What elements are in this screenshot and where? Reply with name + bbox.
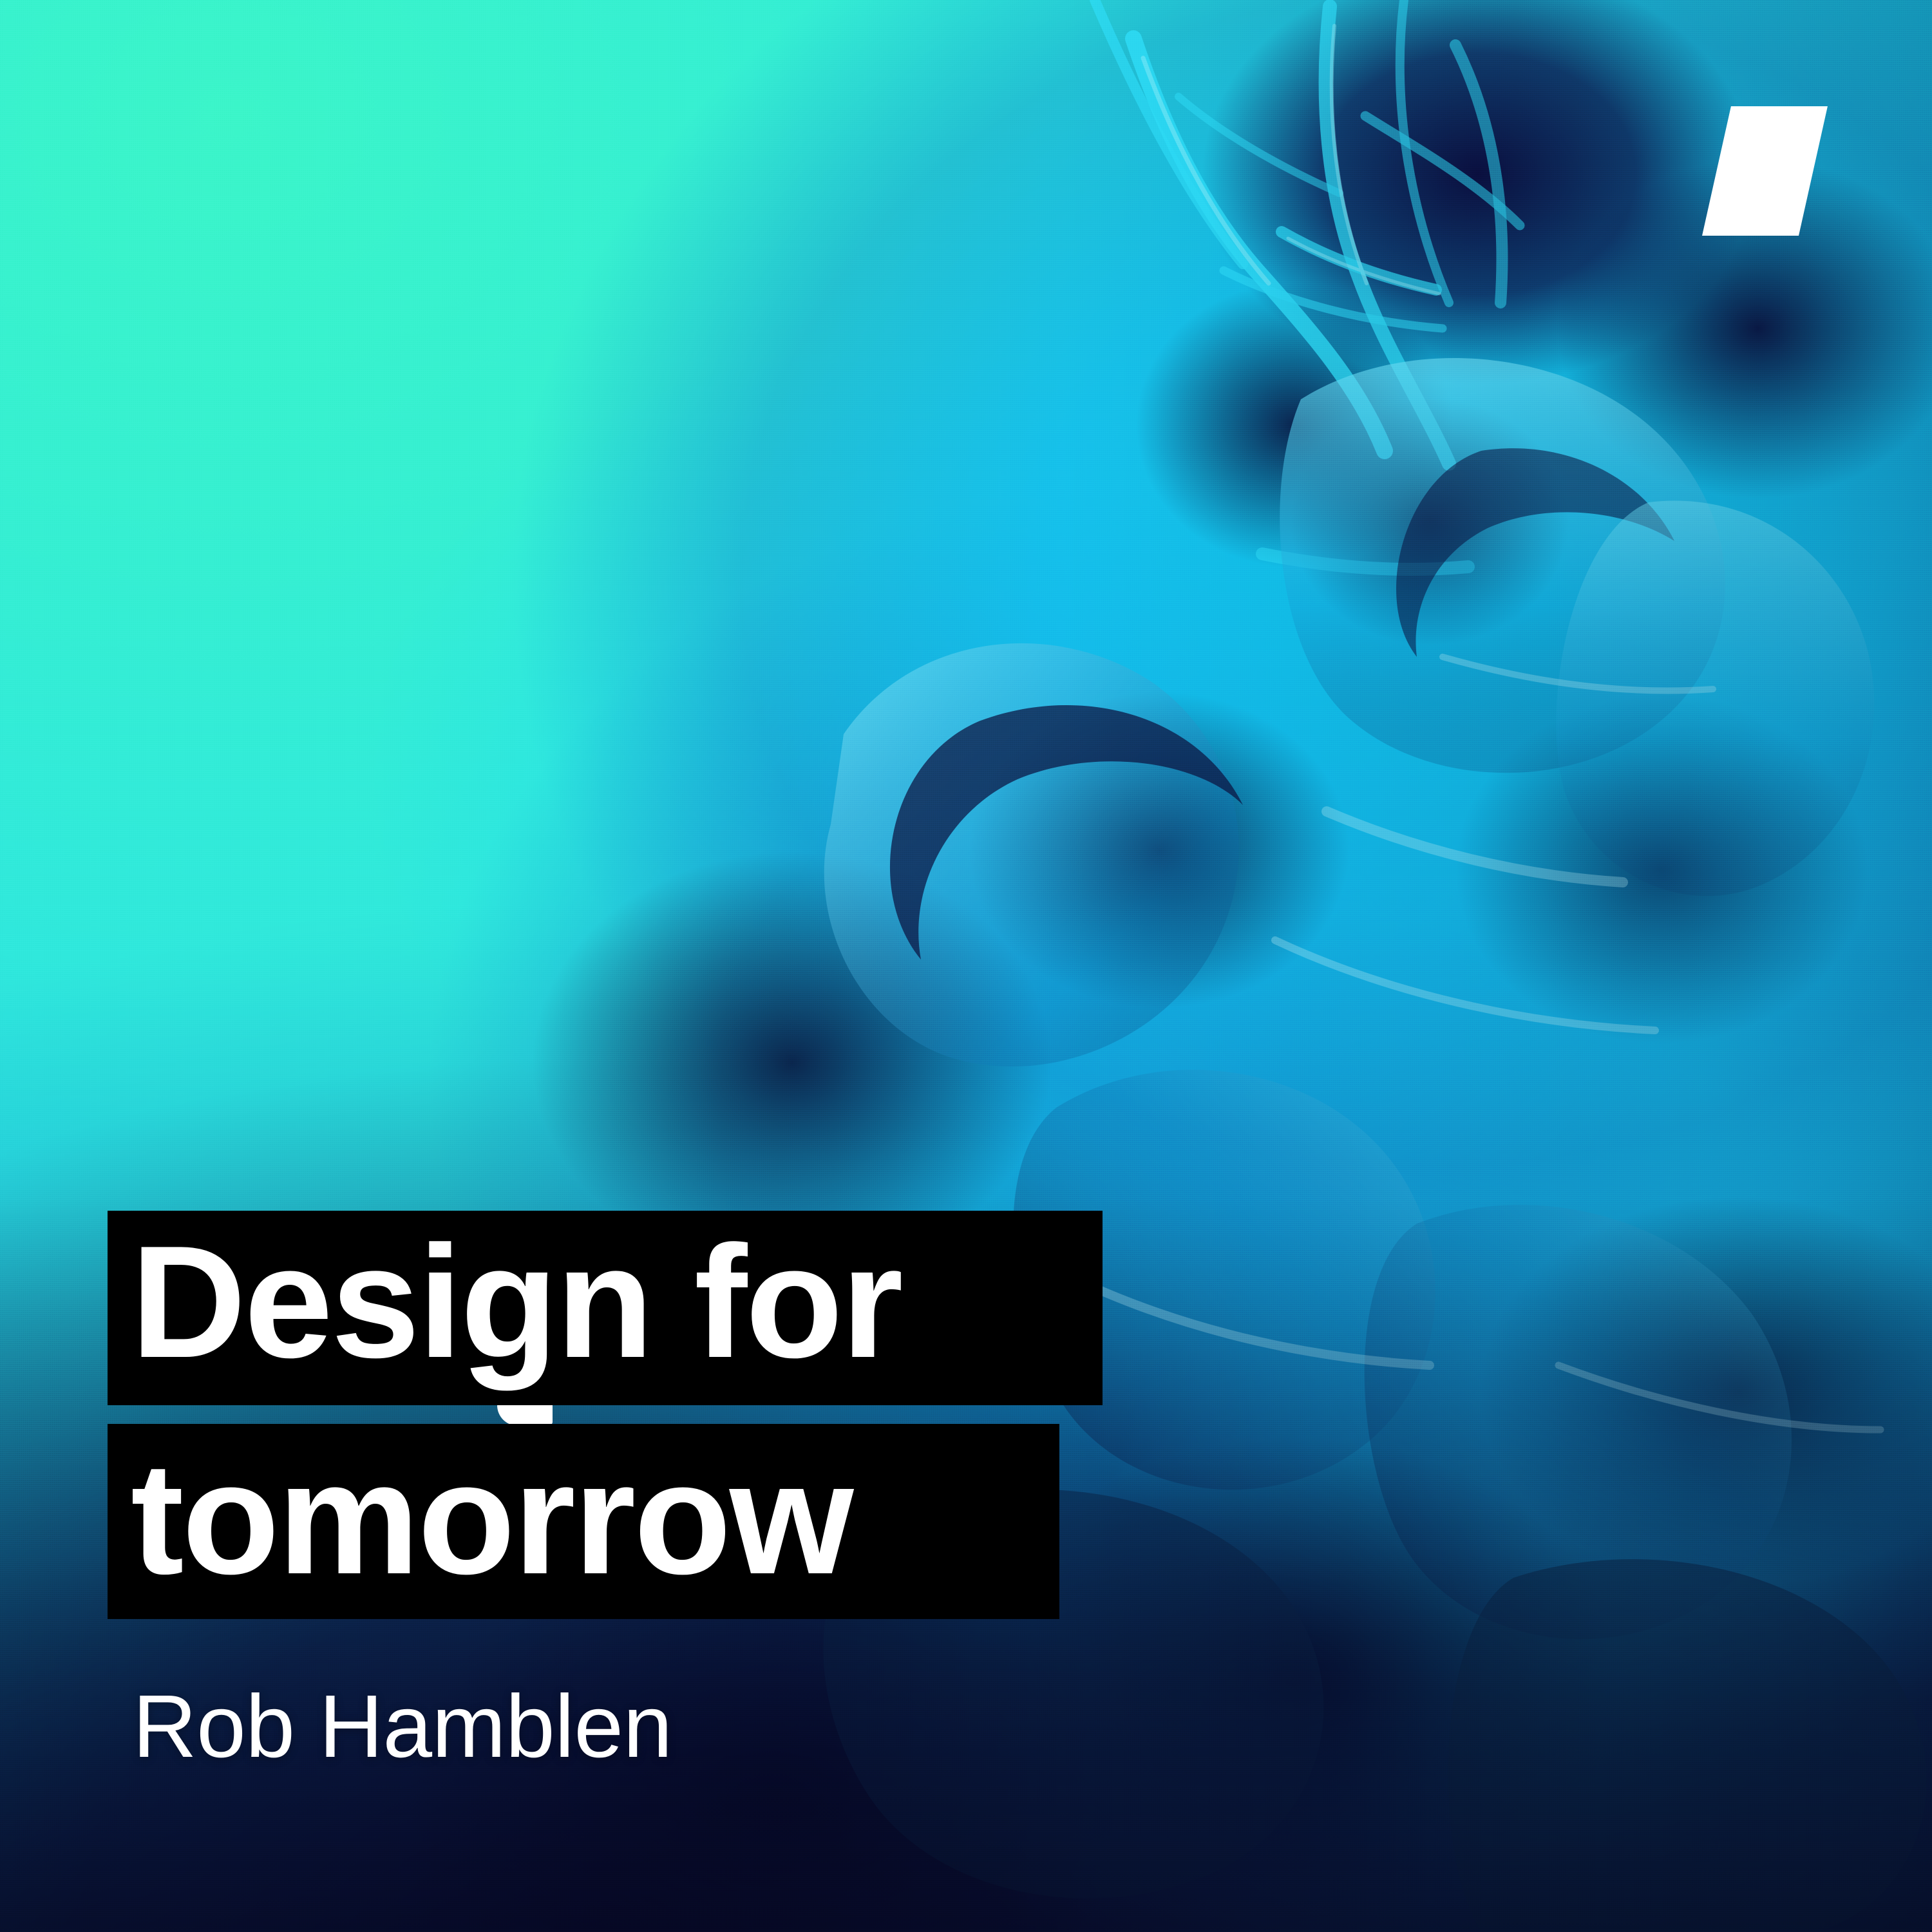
film-grain-overlay <box>0 0 1932 1932</box>
title-line-2: tomorrow <box>108 1424 1059 1619</box>
title-line-2-text: tomorrow <box>131 1438 852 1598</box>
author-byline: Rob Hamblen <box>133 1676 672 1778</box>
podcast-cover-artwork: Design for tomorrow Rob Hamblen <box>0 0 1932 1932</box>
title-line-1-text: Design for <box>131 1222 902 1381</box>
title-line-1: Design for <box>108 1211 1103 1405</box>
